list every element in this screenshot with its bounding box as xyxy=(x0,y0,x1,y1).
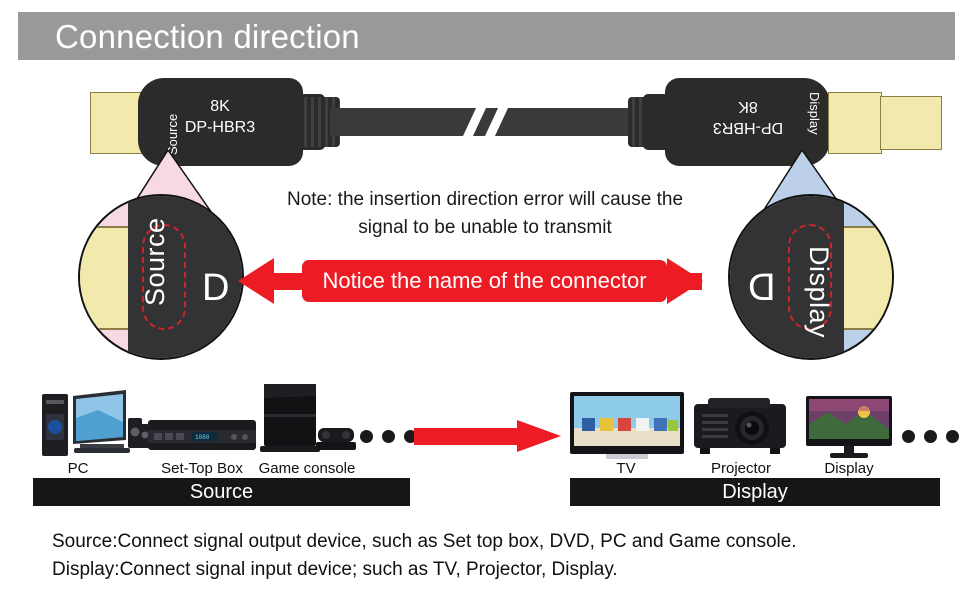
banner-right-arrow-head xyxy=(667,258,703,304)
right-magnifier-lens: Display D xyxy=(728,194,894,360)
footer-notes: Source:Connect signal output device, suc… xyxy=(52,528,932,584)
right-connector-line2: DP-HBR3 xyxy=(688,117,808,138)
device-caption-pc: PC xyxy=(48,460,108,477)
right-plug-contact xyxy=(828,92,882,154)
right-connector-side-tag: Display xyxy=(807,92,822,135)
diagram-canvas: Connection direction 8K DP-HBR3 Source D… xyxy=(0,0,970,600)
dot xyxy=(946,430,959,443)
dot xyxy=(382,430,395,443)
dot xyxy=(360,430,373,443)
left-plug-contact xyxy=(90,92,144,154)
television-icon xyxy=(570,392,688,462)
left-magnifier-lens: Source D xyxy=(78,194,244,360)
note-text: Note: the insertion direction error will… xyxy=(250,186,720,242)
game-console-icon xyxy=(256,384,356,460)
flow-arrow-tail xyxy=(414,428,519,445)
banner-left-arrow-head xyxy=(238,258,274,304)
right-connector-model: DP-HBR3 8K xyxy=(688,96,808,138)
desktop-computer-icon xyxy=(40,388,150,460)
device-caption-game-console: Game console xyxy=(252,460,362,477)
footer-line-2: Display:Connect signal input device; suc… xyxy=(52,556,932,584)
right-plug-tip xyxy=(880,96,942,150)
flow-arrow-head xyxy=(517,420,561,452)
page-title: Connection direction xyxy=(55,19,360,54)
device-caption-projector: Projector xyxy=(694,460,788,477)
device-caption-display: Display xyxy=(806,460,892,477)
note-line-2: signal to be unable to transmit xyxy=(250,214,720,242)
svg-text:1080: 1080 xyxy=(195,434,210,441)
right-lens-plug-contact xyxy=(838,226,894,330)
display-group-bar-label: Display xyxy=(570,478,940,506)
cable-run xyxy=(330,108,640,136)
dot xyxy=(924,430,937,443)
right-connector-line1: 8K xyxy=(688,96,808,117)
left-lens-word: Source xyxy=(140,217,171,306)
left-lens-adjacent-letter: D xyxy=(202,269,229,307)
set-top-box-icon: 1080 xyxy=(148,418,256,454)
left-connector-side-tag: Source xyxy=(165,114,180,155)
device-caption-set-top-box: Set-Top Box xyxy=(146,460,258,477)
dot xyxy=(902,430,915,443)
source-group-bar-label: Source xyxy=(33,478,410,506)
display-ellipsis-dots xyxy=(902,430,959,443)
device-caption-tv: TV xyxy=(596,460,656,477)
source-ellipsis-dots xyxy=(360,430,417,443)
notice-banner-label: Notice the name of the connector xyxy=(302,268,667,294)
monitor-icon xyxy=(806,396,894,460)
note-line-1: Note: the insertion direction error will… xyxy=(250,186,720,214)
projector-icon xyxy=(694,396,790,460)
right-lens-word: Display xyxy=(803,246,834,338)
right-lens-adjacent-letter: D xyxy=(748,269,775,307)
footer-line-1: Source:Connect signal output device, suc… xyxy=(52,528,932,556)
